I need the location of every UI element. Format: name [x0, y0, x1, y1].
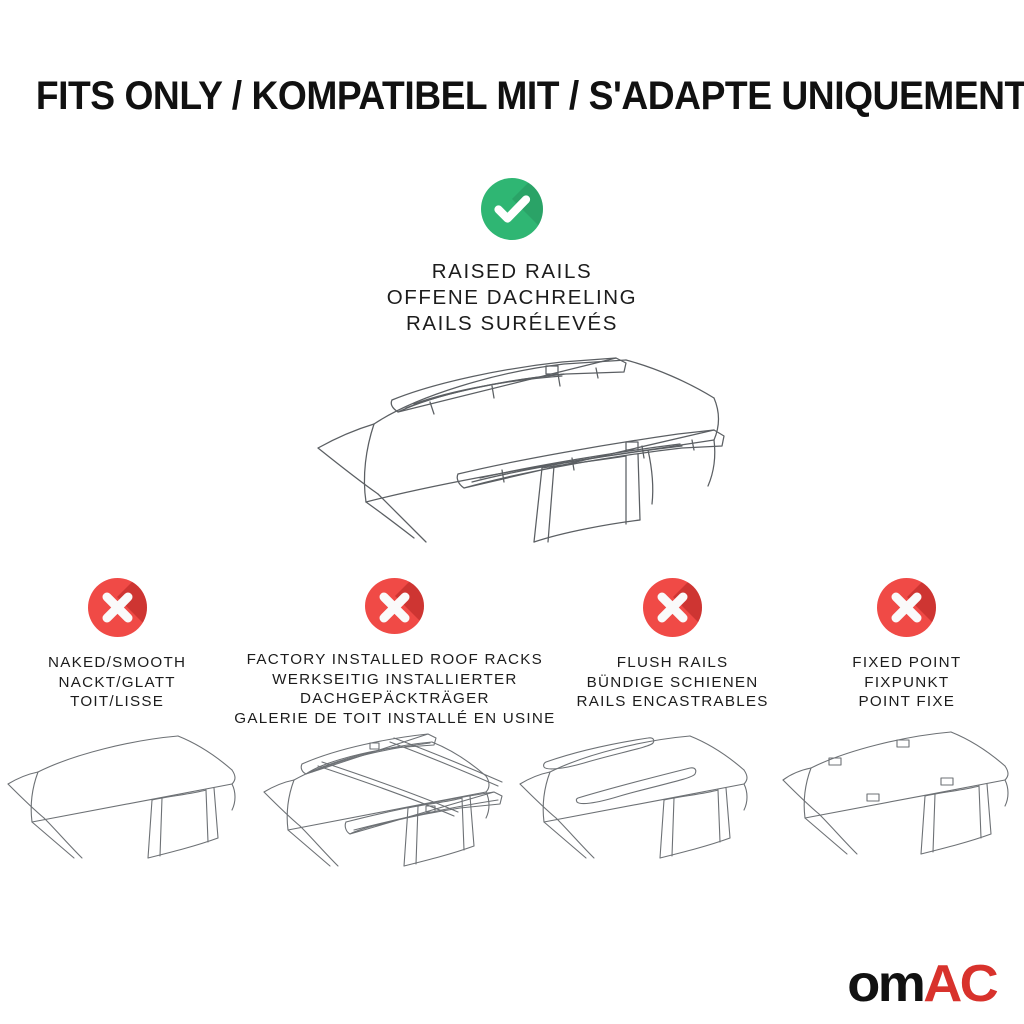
- incompatible-row: NAKED/SMOOTH NACKT/GLATT TOIT/LISSE FACT…: [0, 578, 1024, 728]
- incompatible-labels: FIXED POINT FIXPUNKT POINT FIXE: [852, 653, 961, 712]
- car-roof-flush-rails-drawing: [512, 726, 768, 896]
- incompatible-labels: FACTORY INSTALLED ROOF RACKS WERKSEITIG …: [234, 650, 555, 728]
- label-de-1: WERKSEITIG INSTALLIERTER: [234, 670, 555, 690]
- omac-logo: omAC: [847, 958, 996, 1010]
- naked-smooth-illustration-svg: [2, 726, 254, 886]
- car-roof-fixed-point-drawing: [768, 726, 1024, 896]
- label-de: FIXPUNKT: [852, 673, 961, 693]
- incompatible-labels: NAKED/SMOOTH NACKT/GLATT TOIT/LISSE: [48, 653, 186, 712]
- factory-racks-illustration-svg: [250, 726, 518, 896]
- incompatible-item-naked-smooth: NAKED/SMOOTH NACKT/GLATT TOIT/LISSE: [0, 578, 234, 728]
- label-de: NACKT/GLATT: [48, 673, 186, 693]
- car-roof-naked-smooth-drawing: [0, 726, 256, 896]
- label-de: BÜNDIGE SCHIENEN: [577, 673, 769, 693]
- label-en: FLUSH RAILS: [577, 653, 769, 673]
- compatible-label-en: RAISED RAILS: [312, 259, 712, 285]
- check-circle-icon: [481, 178, 543, 240]
- compatible-label-fr: RAILS SURÉLEVÉS: [312, 311, 712, 337]
- x-circle-icon: [365, 578, 424, 634]
- incompatible-labels: FLUSH RAILS BÜNDIGE SCHIENEN RAILS ENCAS…: [577, 653, 769, 712]
- logo-text-red: AC: [923, 955, 996, 1013]
- compatible-label-de: OFFENE DACHRELING: [312, 285, 712, 311]
- incompatible-illustrations-row: [0, 726, 1024, 896]
- label-en: FACTORY INSTALLED ROOF RACKS: [234, 650, 555, 670]
- x-circle-icon: [643, 578, 702, 637]
- label-de-2: DACHGEPÄCKTRÄGER: [234, 689, 555, 709]
- page-title: FITS ONLY / KOMPATIBEL MIT / S'ADAPTE UN…: [36, 74, 988, 118]
- x-mark-glyph: [877, 578, 936, 637]
- incompatible-item-fixed-point: FIXED POINT FIXPUNKT POINT FIXE: [790, 578, 1024, 728]
- compatible-block: RAISED RAILS OFFENE DACHRELING RAILS SUR…: [312, 178, 712, 337]
- x-circle-icon: [88, 578, 147, 637]
- label-fr: RAILS ENCASTRABLES: [577, 692, 769, 712]
- incompatible-item-flush-rails: FLUSH RAILS BÜNDIGE SCHIENEN RAILS ENCAS…: [555, 578, 789, 728]
- logo-text-dark: om: [847, 955, 923, 1013]
- check-mark-glyph: [481, 178, 543, 240]
- x-mark-glyph: [88, 578, 147, 637]
- label-en: NAKED/SMOOTH: [48, 653, 186, 673]
- label-en: FIXED POINT: [852, 653, 961, 673]
- compatible-labels: RAISED RAILS OFFENE DACHRELING RAILS SUR…: [312, 259, 712, 337]
- label-fr: POINT FIXE: [852, 692, 961, 712]
- flush-rails-illustration-svg: [514, 726, 766, 886]
- fixed-point-illustration-svg: [781, 726, 1011, 886]
- x-mark-glyph: [643, 578, 702, 637]
- raised-rails-illustration-svg: [296, 352, 736, 557]
- fitment-infographic: FITS ONLY / KOMPATIBEL MIT / S'ADAPTE UN…: [0, 0, 1024, 1024]
- x-mark-glyph: [365, 578, 424, 634]
- car-roof-raised-rails-drawing: [296, 352, 736, 557]
- x-circle-icon: [877, 578, 936, 637]
- label-fr: TOIT/LISSE: [48, 692, 186, 712]
- car-roof-factory-racks-drawing: [256, 726, 512, 896]
- incompatible-item-factory-installed-roof-racks: FACTORY INSTALLED ROOF RACKS WERKSEITIG …: [234, 578, 555, 728]
